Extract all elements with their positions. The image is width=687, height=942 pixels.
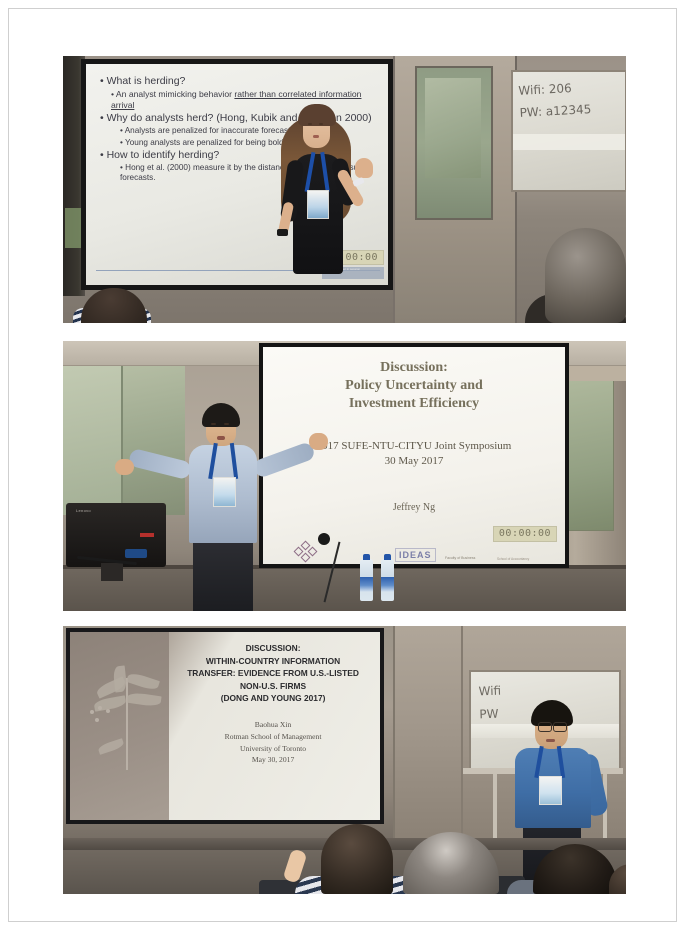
monitor-stand [101,563,123,581]
wall-seam [461,626,463,841]
plant-stem-icon [126,678,128,770]
slide-2-title: Discussion: Policy Uncertainty and Inves… [263,359,565,413]
decorative-panel [70,632,169,820]
conference-photo-1: Wifi: 206 PW: a12345 • What is herding? … [63,56,626,323]
title-line-1: Discussion: [263,359,565,377]
presentation-timer: 00:00:00 [493,526,557,542]
eye-right [224,423,229,425]
plant-leaf-icon [126,692,161,708]
faculty-logo-text: Faculty of Business [445,556,493,561]
glass-panel-right [568,379,614,531]
slide-3-title: DISCUSSION: WITHIN-COUNTRY INFORMATION T… [175,642,370,705]
name-badge [307,190,329,219]
hair-top [298,104,336,126]
hand-left [115,459,134,475]
vga-connector [125,549,147,558]
mouth [217,436,225,440]
whiteboard-glare [513,134,625,150]
presentation-clicker [277,229,288,236]
water-bottle [381,559,394,601]
desk-front [63,569,626,611]
name-badge [213,477,236,507]
title-line-3: Investment Efficiency [263,395,565,413]
conference-photo-3: Wifi PW [63,626,626,894]
author-date: May 30, 2017 [175,754,370,766]
green-exit-light [65,208,82,248]
eye-left [211,423,216,425]
microphone-head [318,533,330,545]
wall-seam [393,626,395,841]
glass-partition-left-inner [63,365,123,515]
projector-screen-3: DISCUSSION: WITHIN-COUNTRY INFORMATION T… [66,628,384,824]
title-line: DISCUSSION: [175,642,370,655]
trousers [193,539,253,611]
hand-right [309,433,328,450]
ideas-logo: IDEAS [395,548,436,562]
whiteboard-wifi-line: Wifi [478,680,501,704]
slide-bullet: • An analyst mimicking behavior rather t… [111,89,382,110]
audience-head [321,824,393,894]
mouth [546,739,555,742]
eye-left [308,123,312,125]
eye-right [319,123,323,125]
audience-head [545,228,626,323]
document-page: Wifi: 206 PW: a12345 • What is herding? … [8,8,677,922]
eyeglasses-lens-right [553,722,567,732]
whiteboard-leg [493,774,497,842]
whiteboard-text: Wifi PW [478,680,502,726]
mouth [313,135,319,138]
author-university: University of Toronto [175,743,370,755]
author-school: Rotman School of Management [175,731,370,743]
whiteboard-photo-1: Wifi: 206 PW: a12345 [511,70,626,192]
hand-right [355,158,373,178]
slide-2-author: Jeffrey Ng [263,502,565,513]
slide-bullet: • Why do analysts herd? (Hong, Kubik and… [100,112,382,125]
school-logo-text: School of Accountancy [497,557,543,561]
title-line: TRANSFER: EVIDENCE FROM U.S.-LISTED [175,667,370,680]
eyeglasses-bridge [550,725,553,726]
monitor-red-accent [140,533,154,537]
title-line: NON-U.S. FIRMS [175,680,370,693]
conference-photo-2: Discussion: Policy Uncertainty and Inves… [63,341,626,611]
slide-3-author-block: Baohua Xin Rotman School of Management U… [175,719,370,766]
slide-3: DISCUSSION: WITHIN-COUNTRY INFORMATION T… [70,632,380,820]
title-line: (DONG AND YOUNG 2017) [175,692,370,705]
whiteboard-password-line: PW: a12345 [519,98,592,124]
whiteboard-password-line: PW [479,702,502,726]
plant-leaf-icon [97,738,125,755]
title-line: WITHIN-COUNTRY INFORMATION [175,655,370,668]
symposium-emblem-icon [295,542,317,562]
door-window [425,78,481,178]
slide-3-content: DISCUSSION: WITHIN-COUNTRY INFORMATION T… [175,642,370,766]
slide-bullet: • What is herding? [100,75,382,88]
author-name: Baohua Xin [175,719,370,731]
plant-leaf-icon [126,671,160,691]
name-badge [539,776,562,805]
monitor-brand-label: Lenovo [76,508,91,513]
water-bottle [360,559,373,601]
eyeglasses-lens-left [538,722,552,732]
room-door [415,66,493,220]
title-line-2: Policy Uncertainty and [263,377,565,395]
